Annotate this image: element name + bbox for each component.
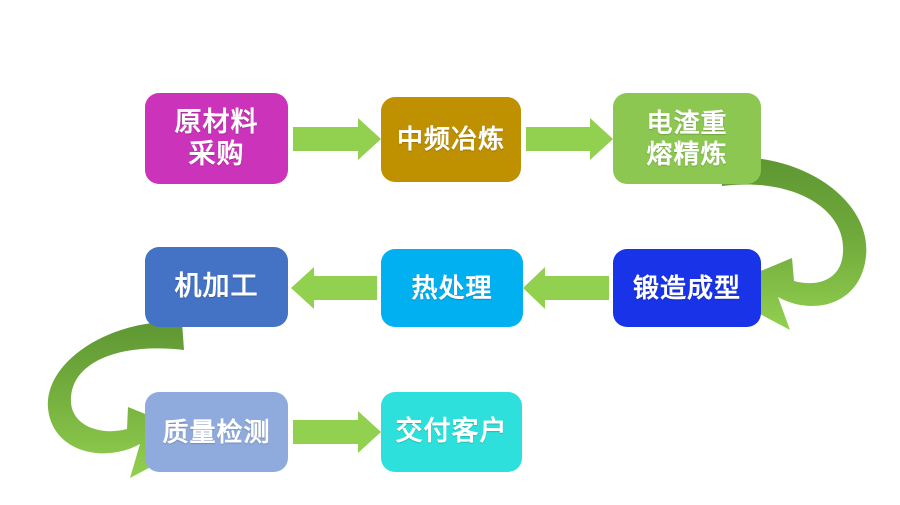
node-quality-inspection[interactable]: 质量检测: [145, 392, 288, 472]
arrow-raw-to-smelting: [293, 118, 381, 160]
arrow-heat-to-machining: [291, 267, 377, 309]
node-label: 锻造成型: [633, 273, 741, 304]
node-label: 交付客户: [396, 416, 508, 448]
node-label: 热处理: [411, 273, 492, 304]
node-label: 质量检测: [162, 417, 270, 448]
node-medium-frequency-smelting[interactable]: 中频冶炼: [381, 97, 521, 182]
node-delivery-to-customer[interactable]: 交付客户: [381, 392, 522, 472]
node-label: 电渣重 熔精炼: [646, 108, 727, 169]
flowchart-canvas: 原材料 采购 中频冶炼 电渣重 熔精炼 锻造成型 热处理 机加工 质量检测 交付…: [0, 0, 900, 505]
node-label: 中频冶炼: [397, 124, 505, 155]
node-label: 原材料 采购: [175, 107, 259, 171]
node-heat-treatment[interactable]: 热处理: [381, 249, 523, 327]
arrow-forging-to-heat: [523, 267, 609, 309]
node-forging-forming[interactable]: 锻造成型: [613, 249, 761, 327]
arrow-smelting-to-electroslag: [526, 118, 613, 160]
node-label: 机加工: [175, 271, 259, 303]
node-raw-material-purchase[interactable]: 原材料 采购: [145, 93, 288, 184]
arrow-quality-to-delivery: [293, 411, 381, 453]
node-electroslag-remelting-refining[interactable]: 电渣重 熔精炼: [613, 93, 761, 184]
node-machining[interactable]: 机加工: [145, 247, 288, 327]
